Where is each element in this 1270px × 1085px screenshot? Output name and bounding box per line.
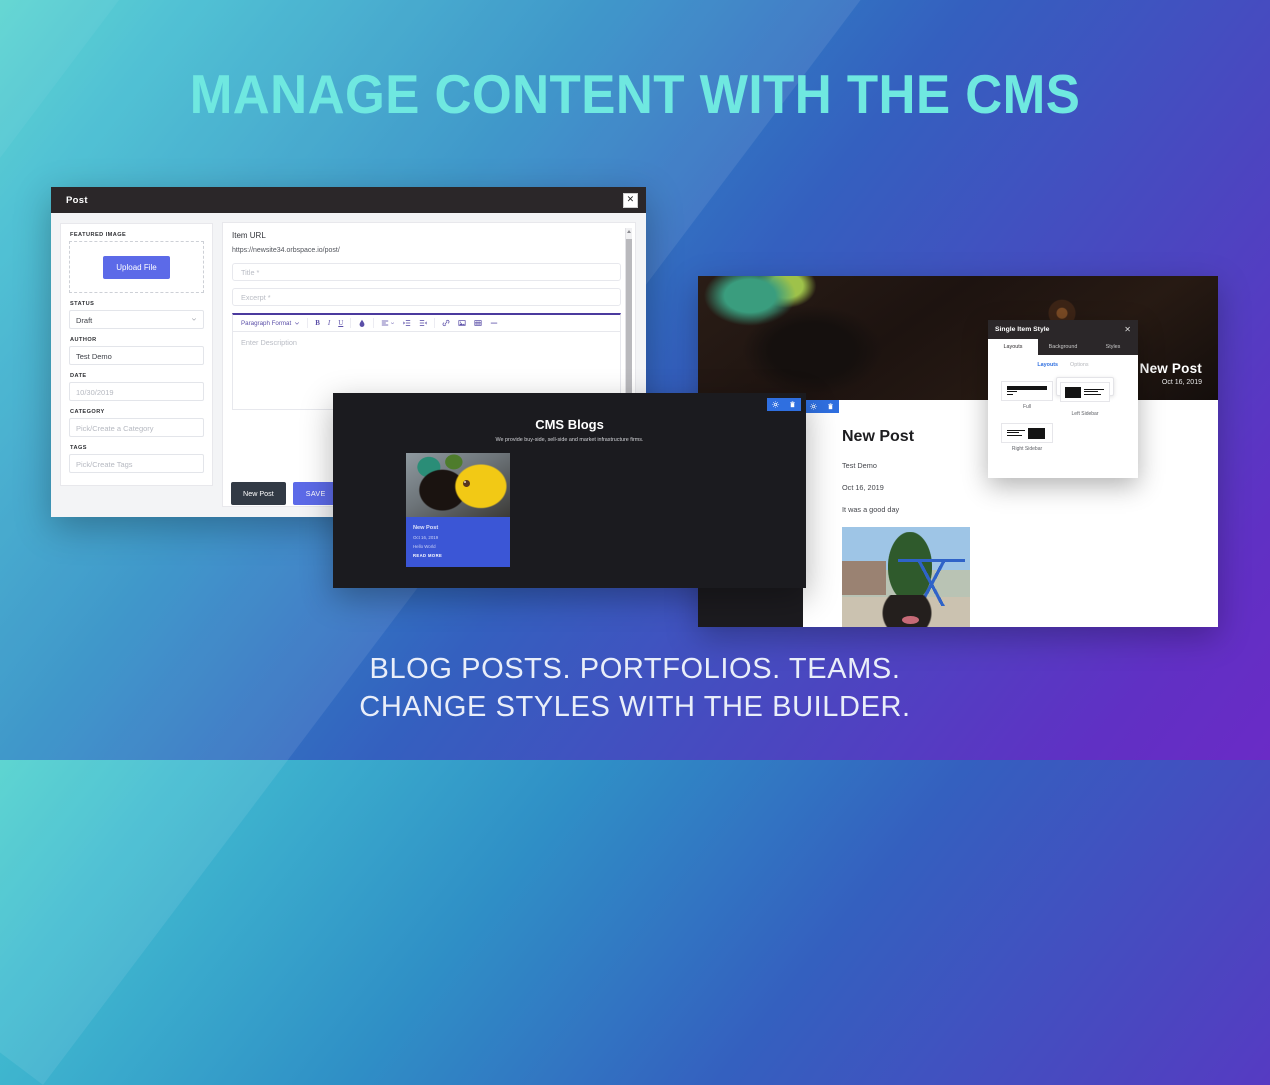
layout-label-full: Full [1001,404,1053,410]
style-panel-tabs: Layouts Background Styles [988,339,1138,355]
layout-option-full[interactable]: Full [998,377,1056,413]
gear-icon[interactable] [767,398,784,411]
chevron-down-icon [294,319,300,327]
dog-eye [463,480,470,487]
indent-increase-icon[interactable] [399,319,415,327]
footer-line-2: Change styles with the Builder. [0,688,1270,726]
hero-caption: New Post Oct 16, 2019 [1140,361,1202,386]
blog-card[interactable]: New Post Oct 16, 2019 Hello World READ M… [406,453,510,569]
layout-thumb-right-sidebar [1001,423,1053,443]
layout-option-right-sidebar[interactable]: Right Sidebar [998,419,1056,455]
toolbar-divider [307,318,308,328]
toolbar-divider [350,318,351,328]
layout-row: Full Left Sidebar [998,377,1128,413]
cms-blogs-preview: CMS Blogs We provide buy-side, sell-side… [333,393,806,588]
table-icon[interactable] [470,319,486,327]
close-icon[interactable]: ✕ [623,193,638,208]
background-diagonal-band-secondary [0,0,279,1065]
new-post-button[interactable]: New Post [231,482,286,505]
status-select[interactable]: Draft [69,310,204,329]
bold-icon[interactable]: B [311,319,324,327]
featured-image-dropzone[interactable]: Upload File [69,241,204,293]
toolbar-divider [373,318,374,328]
footer-line-1: Blog Posts. Portfolios. Teams. [0,650,1270,688]
style-panel-subtabs: Layouts Options [988,355,1138,373]
blogs-tools [767,398,801,411]
blog-card-meta: New Post Oct 16, 2019 Hello World READ M… [406,517,510,567]
close-icon[interactable]: ✕ [1124,325,1131,334]
layout-label-right-sidebar: Right Sidebar [1001,446,1053,452]
hero-title: New Post [1140,361,1202,376]
item-url-label: Item URL [232,231,623,240]
post-dialog-title: Post [59,195,623,206]
single-item-style-panel: Single Item Style ✕ Layouts Background S… [988,320,1138,478]
page-title: Manage Content with the CMS [44,62,1225,126]
editor-toolbar: Paragraph Format B I U [232,313,621,332]
save-button[interactable]: SAVE [293,482,339,505]
post-form-sidebar: FEATURED IMAGE Upload File STATUS Draft … [51,213,222,517]
trash-icon[interactable] [784,398,801,411]
footer-text: Blog Posts. Portfolios. Teams. Change st… [0,650,1270,726]
blog-card-title: New Post [413,525,503,531]
toolbar-divider [434,318,435,328]
post-dialog-actions: New Post SAVE [231,482,339,505]
link-icon[interactable] [438,319,454,327]
blogs-subtitle: We provide buy-side, sell-side and marke… [333,437,806,443]
layout-label-left-sidebar: Left Sidebar [1060,405,1110,424]
category-label: CATEGORY [70,409,204,415]
layout-thumb-full [1001,381,1053,401]
tags-field[interactable]: Pick/Create Tags [69,454,204,473]
tab-layouts[interactable]: Layouts [988,339,1038,355]
date-field[interactable]: 10/30/2019 [69,382,204,401]
blog-card-image [406,453,510,517]
featured-image-label: FEATURED IMAGE [70,232,204,238]
status-value: Draft [76,316,92,325]
text-color-icon[interactable] [354,319,370,327]
tab-background[interactable]: Background [1038,339,1088,355]
subtab-layouts[interactable]: Layouts [1037,362,1058,368]
tab-styles[interactable]: Styles [1088,339,1138,355]
trash-icon[interactable] [822,400,839,413]
dog-hoodie-photo [406,453,510,517]
upload-file-button[interactable]: Upload File [103,256,169,279]
hero-date: Oct 16, 2019 [1140,379,1202,386]
align-icon[interactable] [377,319,399,327]
author-label: AUTHOR [70,337,204,343]
post-dialog-header: Post ✕ [51,187,646,213]
gear-icon[interactable] [805,400,822,413]
style-panel-title: Single Item Style [995,326,1124,333]
date-label: DATE [70,373,204,379]
chevron-down-icon [191,316,197,322]
horizontal-rule-icon[interactable] [486,319,502,327]
image-icon[interactable] [454,319,470,327]
paragraph-format-dropdown[interactable]: Paragraph Format [237,319,304,327]
italic-icon[interactable]: I [324,319,334,327]
tags-label: TAGS [70,445,204,451]
author-field[interactable]: Test Demo [69,346,204,365]
read-more-link[interactable]: READ MORE [413,553,503,558]
blog-card-date: Oct 16, 2019 [413,535,503,540]
layout-thumb-left-sidebar [1060,382,1110,402]
excerpt-input[interactable]: Excerpt * [232,288,621,306]
title-input[interactable]: Title * [232,263,621,281]
post-form-card: FEATURED IMAGE Upload File STATUS Draft … [60,223,213,486]
category-field[interactable]: Pick/Create a Category [69,418,204,437]
subtab-options[interactable]: Options [1070,362,1089,368]
post-hero-image: New Post Oct 16, 2019 [698,276,1218,400]
indent-decrease-icon[interactable] [415,319,431,327]
scroll-up-arrow-icon[interactable] [627,230,631,233]
status-label: STATUS [70,301,204,307]
underline-icon[interactable]: U [334,319,347,327]
post-date: Oct 16, 2019 [842,483,1218,492]
style-panel-header: Single Item Style ✕ [988,320,1138,339]
layout-option-left-sidebar[interactable]: Left Sidebar [1056,377,1114,396]
post-content-text: It was a good day [842,505,1218,514]
layout-options-grid: Full Left Sidebar [988,373,1138,455]
item-url-value: https://newsite34.orbspace.io/post/ [232,247,623,254]
blog-card-excerpt: Hello World [413,544,503,549]
photo-building [842,561,886,595]
layout-row: Right Sidebar [998,419,1128,455]
preview-tools [805,400,839,413]
blogs-title: CMS Blogs [333,417,806,432]
post-inline-photo [842,527,970,627]
